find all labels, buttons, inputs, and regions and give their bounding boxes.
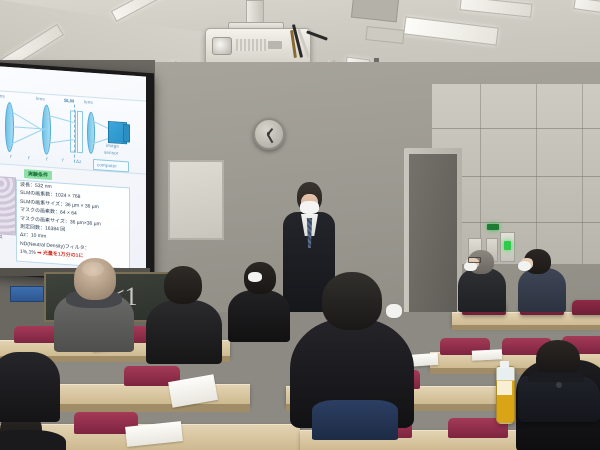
axis-mark-f: f <box>62 158 63 163</box>
bag-stud <box>556 382 562 388</box>
diagram-label-lens: lens <box>36 96 45 102</box>
ceiling-light-icon <box>111 0 171 22</box>
axis-mark-dz: Δz <box>76 159 82 164</box>
ceiling-vent <box>351 0 399 22</box>
diagram-label-image: image <box>106 143 119 149</box>
desk-edge <box>452 325 600 330</box>
attendee-head <box>164 266 202 304</box>
face-mask-icon <box>386 304 402 318</box>
attendee-body <box>518 268 566 312</box>
image-sensor-side <box>123 124 130 142</box>
diagram-label-computer: computer <box>97 162 117 168</box>
projector-vent <box>236 39 266 51</box>
attendee-body <box>0 352 60 422</box>
face-mask-icon <box>464 262 477 271</box>
green-led-icon <box>504 241 511 250</box>
ceiling-light-icon <box>403 16 498 45</box>
whiteboard <box>168 160 224 240</box>
attendee-head <box>322 272 382 330</box>
projector-panel <box>268 41 282 49</box>
green-led-icon <box>487 224 499 230</box>
diagram-label-slm: SLM <box>64 98 74 104</box>
diagram-label-lens: lens <box>84 99 93 105</box>
face-mask-icon <box>248 272 262 282</box>
face-mask-icon <box>518 261 531 271</box>
attendee-body <box>146 300 222 364</box>
nd-prefix: 1%,1% <box>20 249 36 256</box>
projector-lens-icon <box>212 37 232 55</box>
slm-icon <box>70 110 76 152</box>
clock-minute-hand <box>267 134 273 143</box>
ceiling-light-icon <box>573 0 600 15</box>
experiment-parameters-box: 波長：532 nm SLMの画素数：1024 × 768 SLMの画素サイズ：3… <box>16 180 130 270</box>
axis-mark-f: f <box>46 157 47 162</box>
bag-flap <box>528 372 584 382</box>
ceiling-vent <box>365 26 404 44</box>
seat <box>572 300 600 315</box>
face-mask-icon <box>300 201 319 214</box>
slide-content: lens lens SLM lens image sensor f f f f … <box>0 66 146 279</box>
sample-image-thumbnail <box>0 176 16 236</box>
optical-axis-dash <box>74 105 75 163</box>
diagram-label-lens: lens <box>0 93 5 99</box>
bottle-label <box>497 381 512 395</box>
glasses-icon <box>468 257 481 263</box>
arrow-icon: ➡ <box>37 250 41 256</box>
attendee-body <box>0 430 66 450</box>
projection-screen: lens lens SLM lens image sensor f f f f … <box>0 66 146 279</box>
tea-bottle[interactable] <box>496 366 515 424</box>
bottle-cap <box>500 361 509 368</box>
lens-icon <box>87 112 95 155</box>
slm-icon <box>77 111 83 153</box>
slide-section-title: 実験条件 <box>24 169 52 180</box>
axis-mark-f: f <box>28 155 29 160</box>
thumb-caption-1: カス <box>0 234 3 241</box>
attendee-body <box>458 268 506 312</box>
attendee-body <box>228 290 290 342</box>
diagram-label-sensor: sensor <box>104 150 118 156</box>
axis-mark-f: f <box>10 154 11 159</box>
ceiling-light-icon <box>459 0 532 18</box>
storage-box <box>10 286 44 302</box>
classroom-door[interactable] <box>409 154 457 312</box>
nd-result: 光量を1万分の1に <box>43 251 84 260</box>
lecture-hall-photo: lens lens SLM lens image sensor f f f f … <box>0 0 600 450</box>
wall-clock <box>253 118 285 150</box>
handout-paper[interactable] <box>472 349 502 361</box>
status-indicator-box <box>500 232 515 262</box>
attendee-jacket-lower <box>312 400 398 440</box>
